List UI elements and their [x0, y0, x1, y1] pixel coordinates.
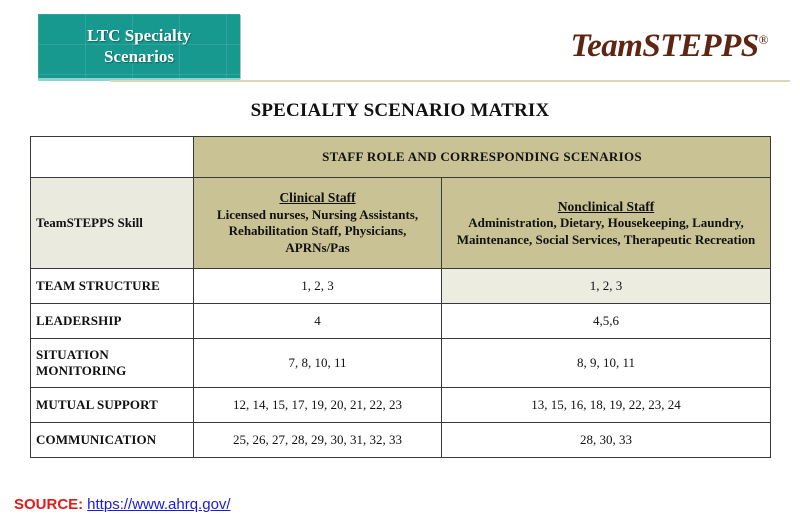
nonclinical-scenarios-value: 28, 30, 33	[442, 423, 771, 458]
registered-trademark-icon: ®	[759, 32, 768, 47]
table-row: SITUATION MONITORING 7, 8, 10, 11 8, 9, …	[31, 339, 771, 388]
clinical-scenarios-value: 12, 14, 15, 17, 19, 20, 21, 22, 23	[194, 388, 442, 423]
nonclinical-scenarios-value: 1, 2, 3	[442, 269, 771, 304]
table-row-group-header: STAFF ROLE AND CORRESPONDING SCENARIOS	[31, 137, 771, 178]
clinical-staff-role-name: Clinical Staff	[199, 189, 436, 206]
skill-column-header-cell: TeamSTEPPS Skill	[31, 178, 194, 269]
header-divider-rule	[110, 80, 790, 82]
table-row: COMMUNICATION 25, 26, 27, 28, 29, 30, 31…	[31, 423, 771, 458]
specialty-scenario-matrix: STAFF ROLE AND CORRESPONDING SCENARIOS T…	[30, 136, 770, 458]
clinical-scenarios-value: 4	[194, 304, 442, 339]
matrix-table: STAFF ROLE AND CORRESPONDING SCENARIOS T…	[30, 136, 771, 458]
nonclinical-scenarios-value: 8, 9, 10, 11	[442, 339, 771, 388]
source-label: SOURCE:	[14, 496, 83, 513]
nonclinical-staff-header-cell: Nonclinical Staff Administration, Dietar…	[442, 178, 771, 269]
skill-label: MUTUAL SUPPORT	[31, 388, 194, 423]
skill-label: TEAM STRUCTURE	[31, 269, 194, 304]
table-row: TEAM STRUCTURE 1, 2, 3 1, 2, 3	[31, 269, 771, 304]
nonclinical-staff-role-detail: Administration, Dietary, Housekeeping, L…	[447, 215, 765, 248]
skill-label: LEADERSHIP	[31, 304, 194, 339]
clinical-scenarios-value: 1, 2, 3	[194, 269, 442, 304]
slide-title-text: LTC Specialty Scenarios	[87, 25, 191, 68]
slide-title-plate: LTC Specialty Scenarios	[38, 14, 240, 78]
teamstepps-logo: TeamSTEPPS®	[570, 28, 768, 65]
corner-blank-cell	[31, 137, 194, 178]
table-row: LEADERSHIP 4 4,5,6	[31, 304, 771, 339]
source-citation: SOURCE:https://www.ahrq.gov/	[14, 496, 231, 513]
clinical-scenarios-value: 7, 8, 10, 11	[194, 339, 442, 388]
skill-label: SITUATION MONITORING	[31, 339, 194, 388]
page-title: SPECIALTY SCENARIO MATRIX	[0, 100, 800, 122]
nonclinical-scenarios-value: 4,5,6	[442, 304, 771, 339]
skill-label: COMMUNICATION	[31, 423, 194, 458]
teamstepps-logo-text: TeamSTEPPS	[570, 28, 758, 64]
clinical-staff-header-cell: Clinical Staff Licensed nurses, Nursing …	[194, 178, 442, 269]
source-url-link[interactable]: https://www.ahrq.gov/	[87, 496, 230, 513]
table-row: MUTUAL SUPPORT 12, 14, 15, 17, 19, 20, 2…	[31, 388, 771, 423]
clinical-staff-role-detail: Licensed nurses, Nursing Assistants, Reh…	[199, 207, 436, 257]
table-row-column-headers: TeamSTEPPS Skill Clinical Staff Licensed…	[31, 178, 771, 269]
group-header-cell: STAFF ROLE AND CORRESPONDING SCENARIOS	[194, 137, 771, 178]
clinical-scenarios-value: 25, 26, 27, 28, 29, 30, 31, 32, 33	[194, 423, 442, 458]
slide-header: LTC Specialty Scenarios TeamSTEPPS®	[0, 0, 800, 90]
nonclinical-scenarios-value: 13, 15, 16, 18, 19, 22, 23, 24	[442, 388, 771, 423]
nonclinical-staff-role-name: Nonclinical Staff	[447, 198, 765, 215]
